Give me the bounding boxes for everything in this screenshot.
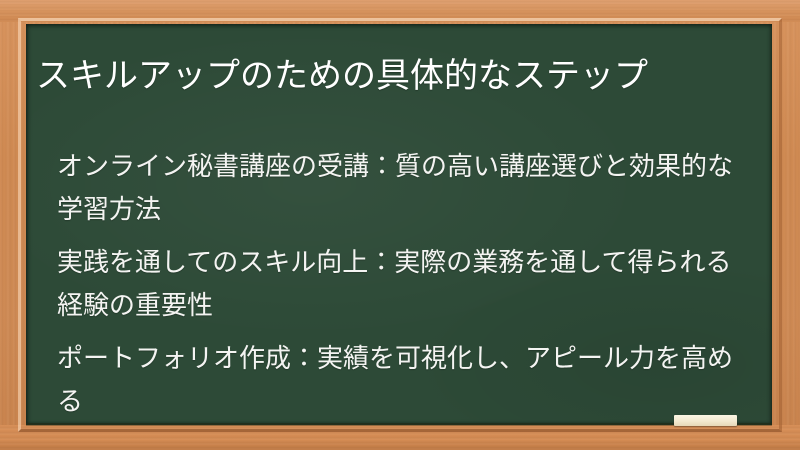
list-item: 実践を通してのスキル向上：実際の業務を通して得られる経験の重要性 (26, 242, 772, 328)
list-item: ポートフォリオ作成：実績を可視化し、アピール力を高める (26, 338, 772, 424)
wooden-frame-ledge (0, 425, 800, 450)
list-item: オンライン秘書講座の受講：質の高い講座選びと効果的な学習方法 (26, 146, 772, 232)
wooden-frame-top (0, 0, 800, 22)
board-ledge-seam (26, 423, 772, 426)
page-title: スキルアップのための具体的なステップ (36, 53, 762, 99)
bullet-list: オンライン秘書講座の受講：質の高い講座選びと効果的な学習方法 実践を通してのスキ… (26, 146, 772, 424)
chalkboard-slide: スキルアップのための具体的なステップ オンライン秘書講座の受講：質の高い講座選び… (0, 0, 800, 450)
chalkboard-content: スキルアップのための具体的なステップ オンライン秘書講座の受講：質の高い講座選び… (26, 24, 772, 425)
chalkboard-surface: スキルアップのための具体的なステップ オンライン秘書講座の受講：質の高い講座選び… (26, 24, 772, 425)
chalk-stick-icon (674, 415, 737, 426)
